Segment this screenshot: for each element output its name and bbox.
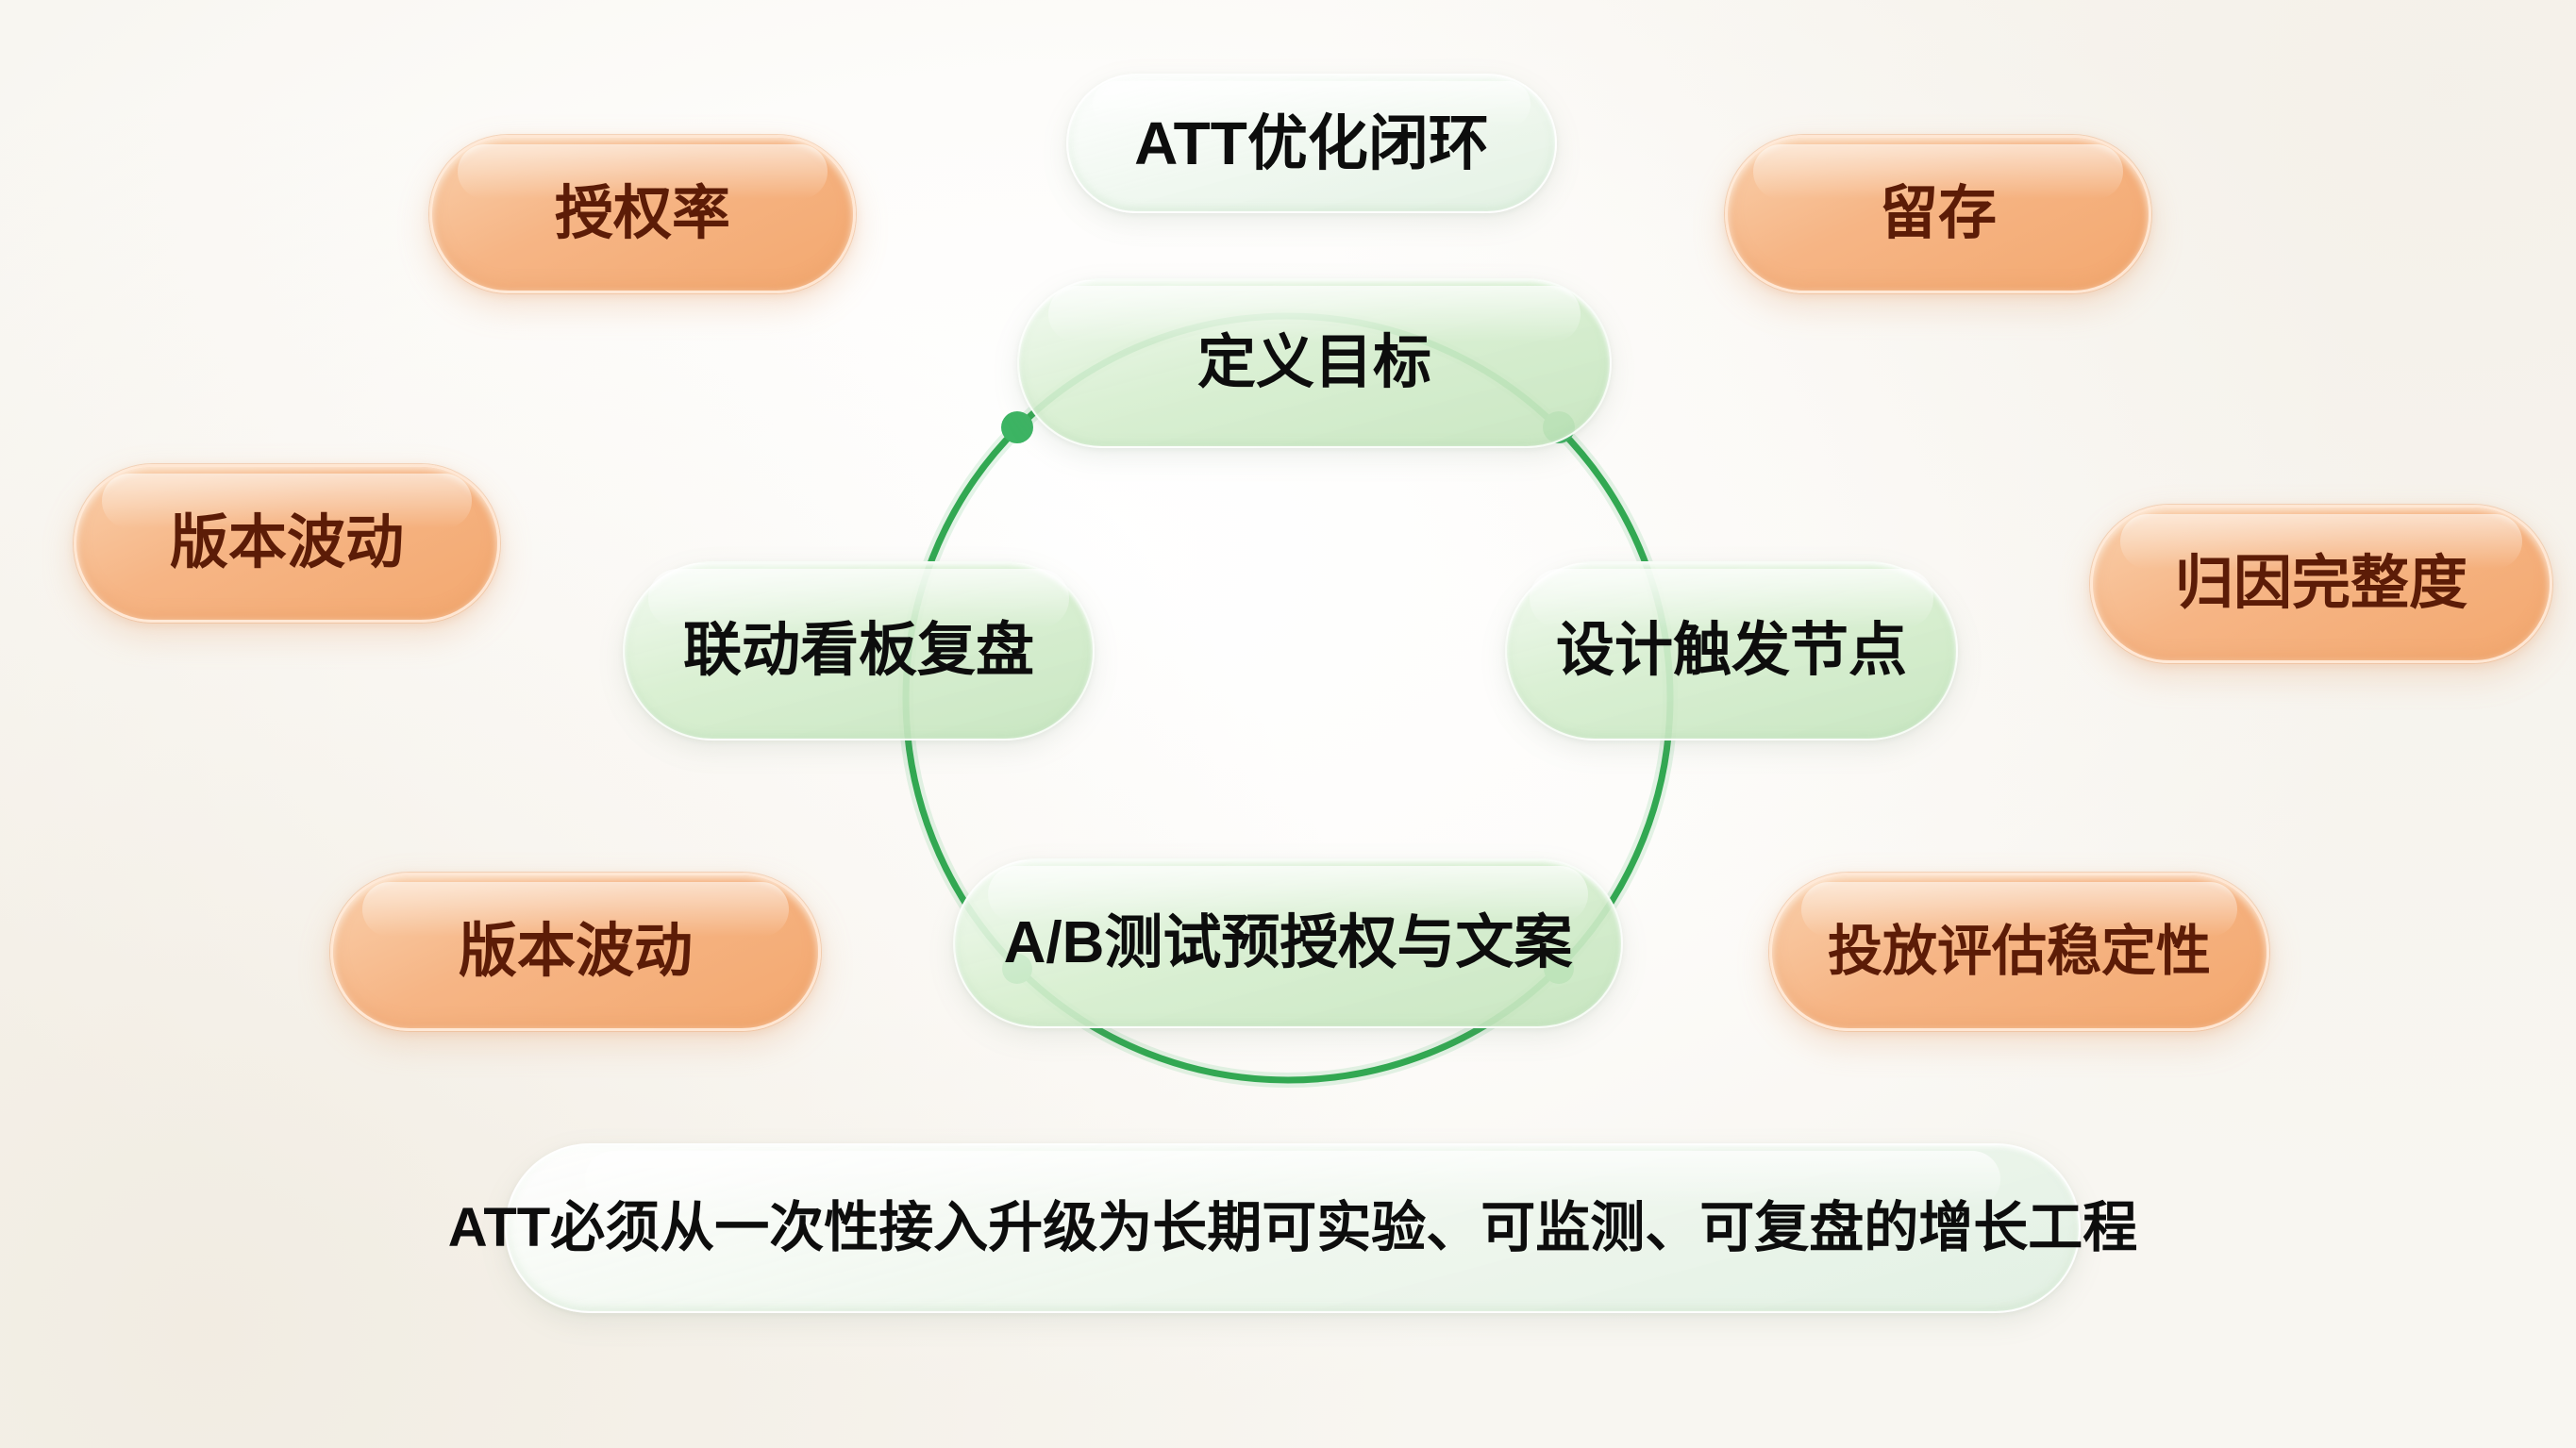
diagram-canvas: ATT优化闭环 定义目标 设计触发节点 A/B测试预授权与文案 联动看板复盘 授… <box>0 0 2576 1448</box>
cycle-node-define-goal[interactable]: 定义目标 <box>1017 278 1612 448</box>
diagram-title: ATT优化闭环 <box>1134 113 1489 174</box>
cycle-node-ab-test[interactable]: A/B测试预授权与文案 <box>953 858 1623 1028</box>
metric-pill-label: 授权率 <box>555 185 730 243</box>
metric-pill-label: 投放评估稳定性 <box>1828 924 2211 979</box>
metric-pill-label: 归因完整度 <box>2175 555 2467 613</box>
footer-banner: ATT必须从一次性接入升级为长期可实验、可监测、可复盘的增长工程 <box>505 1143 2081 1313</box>
diagram-title-pill: ATT优化闭环 <box>1066 74 1557 213</box>
cycle-node-label: 设计触发节点 <box>1556 622 1907 680</box>
footer-banner-text: ATT必须从一次性接入升级为长期可实验、可监测、可复盘的增长工程 <box>448 1201 2137 1256</box>
metric-pill-label: 留存 <box>1880 185 1997 243</box>
cycle-node-dashboard[interactable]: 联动看板复盘 <box>623 561 1095 741</box>
cycle-node-label: 联动看板复盘 <box>683 622 1034 680</box>
metric-pill-retention[interactable]: 留存 <box>1725 135 2151 293</box>
metric-pill-label: 版本波动 <box>459 923 693 981</box>
cycle-node-label: 定义目标 <box>1197 334 1431 392</box>
metric-pill-authorization-rate[interactable]: 授权率 <box>429 135 856 293</box>
metric-pill-attribution-completeness[interactable]: 归因完整度 <box>2090 505 2552 663</box>
cycle-node-trigger-point[interactable]: 设计触发节点 <box>1505 561 1958 741</box>
cycle-node-label: A/B测试预授权与文案 <box>1004 914 1573 973</box>
metric-pill-label: 版本波动 <box>170 514 404 573</box>
cycle-dot-top-left <box>1001 411 1033 443</box>
metric-pill-delivery-stability[interactable]: 投放评估稳定性 <box>1769 873 2269 1031</box>
metric-pill-version-volatility-1[interactable]: 版本波动 <box>74 464 500 623</box>
metric-pill-version-volatility-2[interactable]: 版本波动 <box>330 873 821 1031</box>
